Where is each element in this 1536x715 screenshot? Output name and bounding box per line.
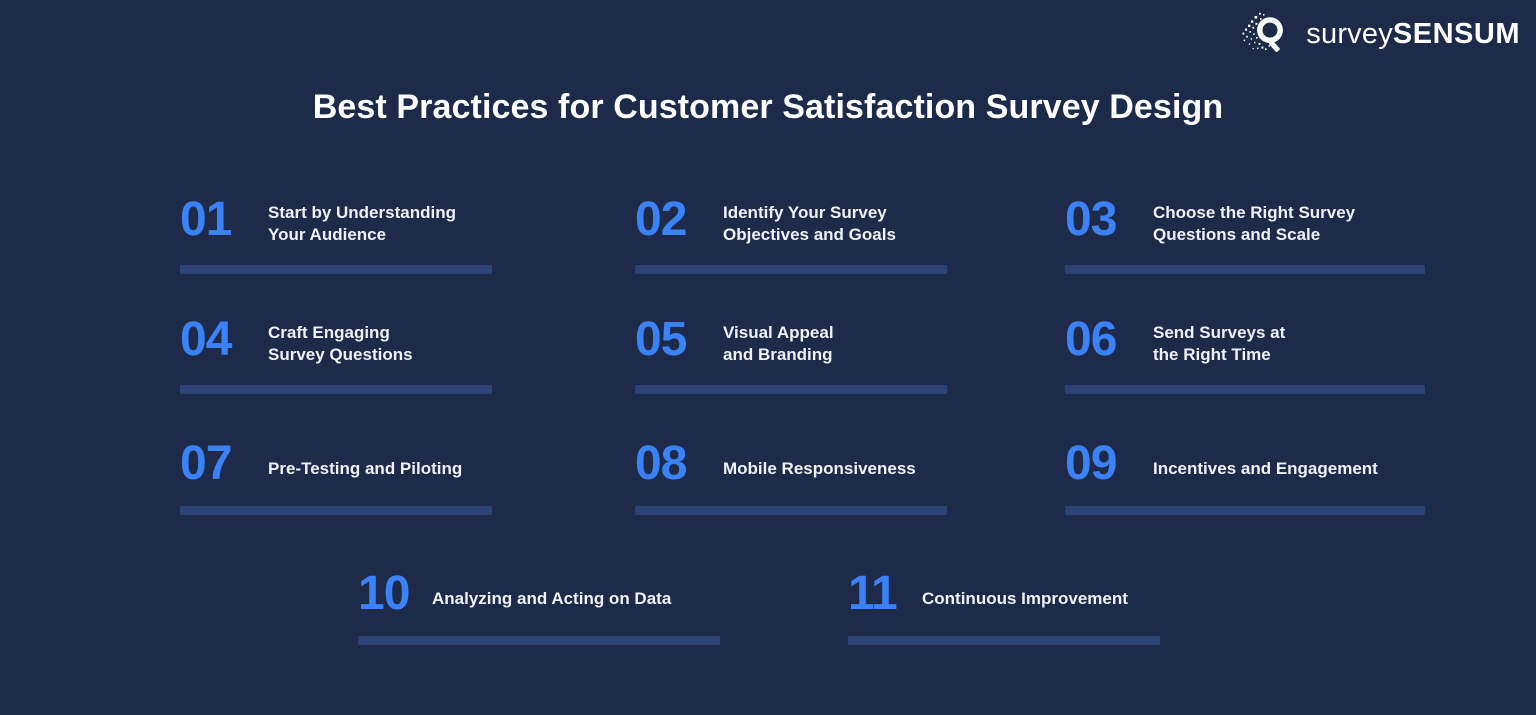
- practice-underline: [180, 506, 492, 515]
- practice-item-09: 09 Incentives and Engagement: [1065, 440, 1425, 515]
- practice-item-03: 03 Choose the Right Survey Questions and…: [1065, 196, 1425, 274]
- practice-label: Craft Engaging Survey Questions: [268, 316, 413, 367]
- practice-underline: [180, 265, 492, 274]
- practice-number: 10: [358, 570, 416, 618]
- practice-item-02: 02 Identify Your Survey Objectives and G…: [635, 196, 947, 274]
- practice-underline: [1065, 506, 1425, 515]
- practice-number: 02: [635, 196, 707, 244]
- practice-underline: [848, 636, 1160, 645]
- practice-number: 04: [180, 316, 252, 364]
- practice-head: 11 Continuous Improvement: [848, 570, 1160, 618]
- practice-label: Send Surveys at the Right Time: [1153, 316, 1285, 367]
- practice-head: 08 Mobile Responsiveness: [635, 440, 947, 488]
- practice-underline: [1065, 265, 1425, 274]
- practice-head: 01 Start by Understanding Your Audience: [180, 196, 492, 247]
- practice-head: 03 Choose the Right Survey Questions and…: [1065, 196, 1425, 247]
- practice-head: 07 Pre-Testing and Piloting: [180, 440, 492, 488]
- practice-item-07: 07 Pre-Testing and Piloting: [180, 440, 492, 515]
- practice-head: 06 Send Surveys at the Right Time: [1065, 316, 1425, 367]
- practice-item-08: 08 Mobile Responsiveness: [635, 440, 947, 515]
- practice-underline: [180, 385, 492, 394]
- practice-number: 01: [180, 196, 252, 244]
- practice-head: 05 Visual Appeal and Branding: [635, 316, 947, 367]
- practice-number: 08: [635, 440, 707, 488]
- practice-label: Identify Your Survey Objectives and Goal…: [723, 196, 896, 247]
- practice-number: 07: [180, 440, 252, 488]
- practice-underline: [1065, 385, 1425, 394]
- practice-item-10: 10 Analyzing and Acting on Data: [358, 570, 720, 645]
- practice-number: 06: [1065, 316, 1137, 364]
- practice-head: 04 Craft Engaging Survey Questions: [180, 316, 492, 367]
- practice-label: Choose the Right Survey Questions and Sc…: [1153, 196, 1355, 247]
- practice-item-11: 11 Continuous Improvement: [848, 570, 1160, 645]
- practice-label: Incentives and Engagement: [1153, 440, 1378, 480]
- practices-grid: 01 Start by Understanding Your Audience …: [0, 0, 1536, 715]
- practice-underline: [635, 385, 947, 394]
- practice-number: 03: [1065, 196, 1137, 244]
- practice-label: Pre-Testing and Piloting: [268, 440, 462, 480]
- practice-label: Visual Appeal and Branding: [723, 316, 834, 367]
- practice-head: 02 Identify Your Survey Objectives and G…: [635, 196, 947, 247]
- practice-label: Start by Understanding Your Audience: [268, 196, 456, 247]
- practice-item-04: 04 Craft Engaging Survey Questions: [180, 316, 492, 394]
- practice-item-01: 01 Start by Understanding Your Audience: [180, 196, 492, 274]
- practice-head: 10 Analyzing and Acting on Data: [358, 570, 720, 618]
- practice-underline: [358, 636, 720, 645]
- practice-underline: [635, 506, 947, 515]
- practice-item-05: 05 Visual Appeal and Branding: [635, 316, 947, 394]
- practice-item-06: 06 Send Surveys at the Right Time: [1065, 316, 1425, 394]
- practice-head: 09 Incentives and Engagement: [1065, 440, 1425, 488]
- practice-number: 09: [1065, 440, 1137, 488]
- practice-number: 05: [635, 316, 707, 364]
- practice-label: Continuous Improvement: [922, 570, 1128, 610]
- practice-number: 11: [848, 570, 906, 618]
- practice-label: Analyzing and Acting on Data: [432, 570, 671, 610]
- infographic-canvas: surveySENSUM Best Practices for Customer…: [0, 0, 1536, 715]
- practice-underline: [635, 265, 947, 274]
- practice-label: Mobile Responsiveness: [723, 440, 916, 480]
